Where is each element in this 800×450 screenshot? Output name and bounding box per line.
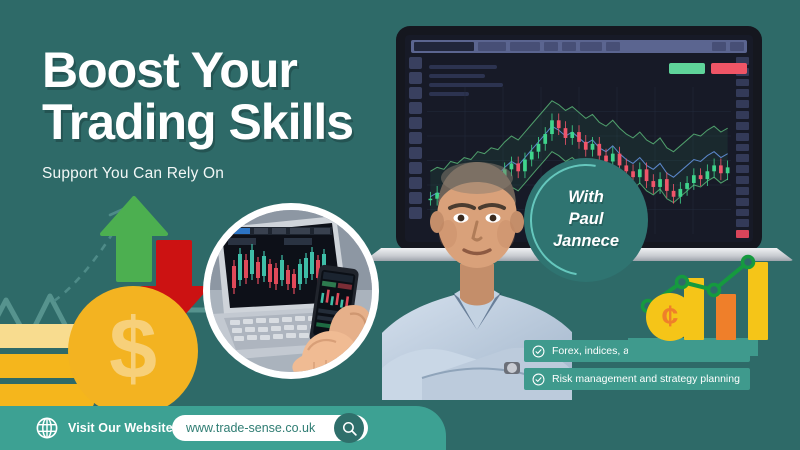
platform-toolbar [411, 40, 747, 53]
search-button[interactable] [334, 413, 364, 443]
feature-label: Risk management and strategy planning [552, 373, 740, 385]
inset-photo-art [210, 210, 372, 372]
banner-canvas: $ Boost Your Trading Skills Support You … [0, 0, 800, 450]
headline-line-2: Trading Skills [42, 96, 402, 148]
sell-button[interactable] [711, 63, 747, 74]
presenter-badge: With Paul Jannece [524, 158, 648, 282]
globe-icon [36, 417, 58, 439]
check-circle-icon [532, 373, 545, 386]
buy-button[interactable] [669, 63, 705, 74]
visit-website-label: Visit Our Website [68, 421, 173, 435]
website-footer-bar: Visit Our Website www.trade-sense.co.uk [0, 406, 446, 450]
website-url-text: www.trade-sense.co.uk [186, 421, 315, 435]
dollar-coin-graphic: $ [68, 286, 198, 416]
search-icon [341, 420, 358, 437]
cent-coin-icon: ¢ [646, 293, 694, 341]
platform-depth-ladder [736, 57, 749, 238]
dollar-symbol: $ [68, 286, 198, 416]
feature-pill-risk: Risk management and strategy planning [524, 368, 750, 390]
page-title: Boost Your Trading Skills [42, 44, 402, 148]
trading-setup-photo [203, 203, 379, 379]
headline-line-1: Boost Your [42, 44, 402, 96]
cent-symbol: ¢ [646, 293, 694, 341]
check-circle-icon [532, 345, 545, 358]
subheadline: Support You Can Rely On [42, 165, 224, 183]
